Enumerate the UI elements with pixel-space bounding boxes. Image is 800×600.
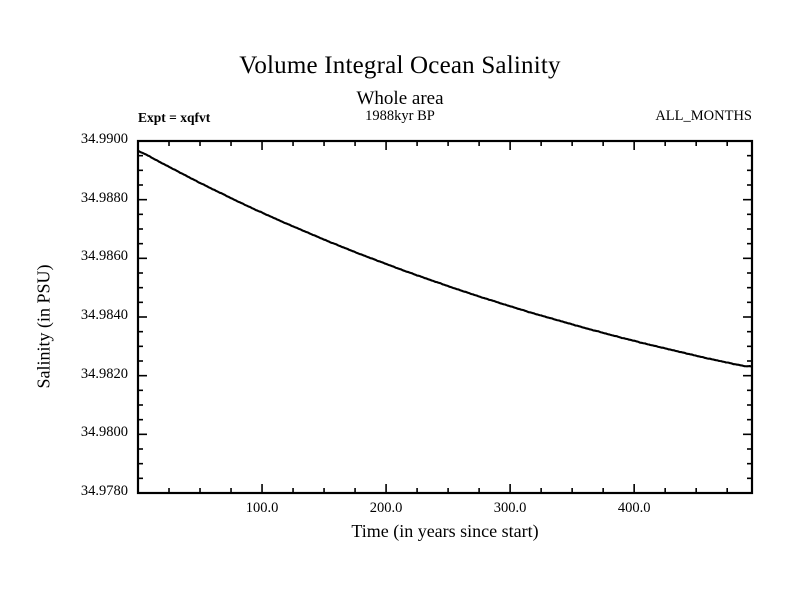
plot-canvas xyxy=(0,0,800,600)
axis-tick-marks xyxy=(138,141,752,493)
salinity-chart-figure: Volume Integral Ocean Salinity Whole are… xyxy=(0,0,800,600)
axis-frame xyxy=(138,141,752,493)
salinity-data-line xyxy=(138,151,752,367)
